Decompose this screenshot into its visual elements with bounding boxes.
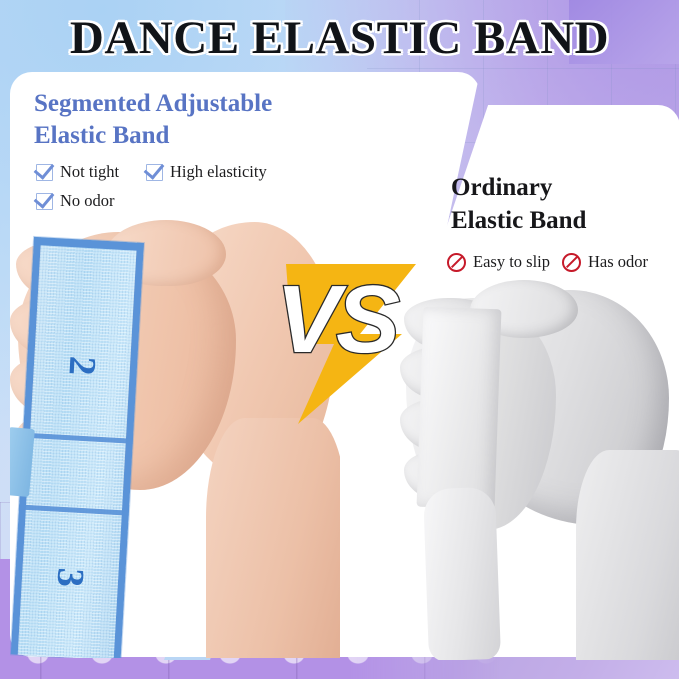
band-segment-number-2: 2 — [57, 317, 106, 415]
grey-hand-wrist — [576, 450, 679, 660]
feature-item-no-odor: No odor — [36, 191, 115, 211]
feature-label: High elasticity — [170, 162, 267, 182]
left-heading-line-2: Elastic Band — [34, 120, 384, 152]
hand-wrist — [206, 418, 340, 658]
left-panel-heading: Segmented Adjustable Elastic Band — [34, 88, 384, 151]
feature-item-not-tight: Not tight — [36, 162, 119, 182]
right-heading-line-2: Elastic Band — [451, 205, 671, 238]
plain-band-loose-end — [423, 487, 501, 660]
drawback-label: Has odor — [588, 252, 648, 272]
right-product-photo — [400, 280, 679, 660]
checkbox-checked-icon — [36, 164, 53, 181]
feature-item-high-elasticity: High elasticity — [146, 162, 267, 182]
drawback-item-has-odor: Has odor — [562, 252, 648, 272]
drawback-label: Easy to slip — [473, 252, 550, 272]
right-panel-heading: Ordinary Elastic Band — [451, 172, 671, 237]
plain-elastic-band — [417, 307, 502, 510]
checkbox-checked-icon — [146, 164, 163, 181]
page-title: DANCE ELASTIC BAND — [0, 11, 679, 65]
product-comparison-image: DANCE ELASTIC BAND Segmented Adjustable … — [0, 0, 679, 679]
checkbox-checked-icon — [36, 193, 53, 210]
left-heading-line-1: Segmented Adjustable — [34, 88, 384, 120]
prohibition-icon — [562, 253, 581, 272]
vs-label: VS — [276, 272, 406, 392]
right-heading-line-1: Ordinary — [451, 172, 671, 205]
prohibition-icon — [447, 253, 466, 272]
feature-label: No odor — [60, 191, 115, 211]
drawback-item-easy-to-slip: Easy to slip — [447, 252, 550, 272]
feature-label: Not tight — [60, 162, 119, 182]
band-segment-number-3: 3 — [45, 528, 94, 626]
